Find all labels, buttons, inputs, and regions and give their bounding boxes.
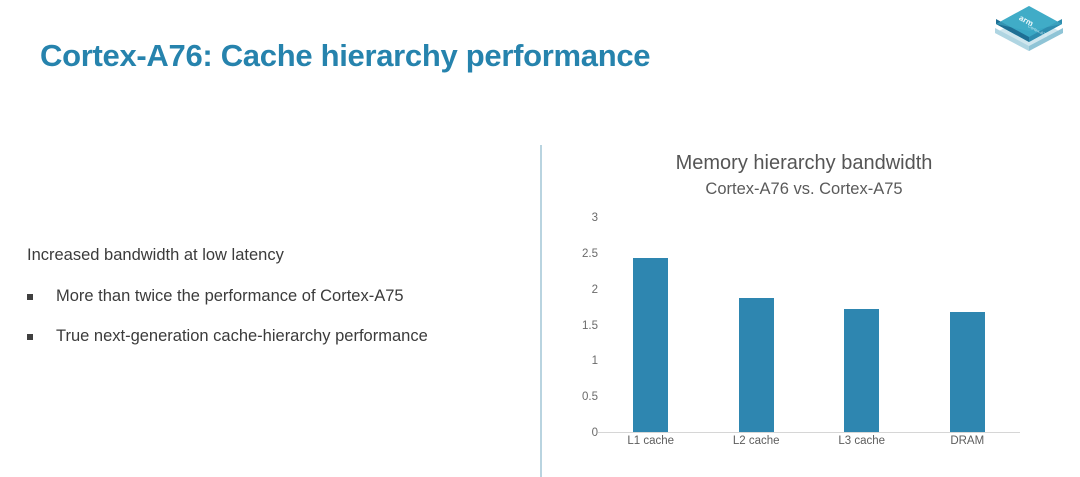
bar[interactable] xyxy=(739,298,774,432)
chart-subtitle: Cortex-A76 vs. Cortex-A75 xyxy=(560,180,1030,199)
x-axis-tick-label: L3 cache xyxy=(809,435,915,447)
square-bullet-icon xyxy=(27,294,33,300)
bar[interactable] xyxy=(950,312,985,432)
x-axis-tick-label: L2 cache xyxy=(704,435,810,447)
page-title: Cortex-A76: Cache hierarchy performance xyxy=(40,38,650,74)
vertical-divider xyxy=(540,145,542,477)
square-bullet-icon xyxy=(27,334,33,340)
bar-slot xyxy=(915,218,1021,432)
chart-title: Memory hierarchy bandwidth xyxy=(560,152,1030,175)
x-axis: L1 cacheL2 cacheL3 cacheDRAM xyxy=(598,435,1020,447)
y-axis-tick-label: 2.5 xyxy=(582,248,598,260)
plot-area-wrapper: 32.521.510.50 L1 cacheL2 cacheL3 cacheDR… xyxy=(560,218,1030,468)
bar[interactable] xyxy=(844,309,879,432)
bullet-text: True next-generation cache-hierarchy per… xyxy=(56,326,428,347)
bar-chart: Memory hierarchy bandwidth Cortex-A76 vs… xyxy=(560,152,1030,472)
bar[interactable] xyxy=(633,258,668,432)
list-item: True next-generation cache-hierarchy per… xyxy=(27,326,527,347)
bar-slot xyxy=(809,218,915,432)
arm-cortex-a76-chip-logo: arm Cortex-A76 xyxy=(990,2,1068,54)
plot-area xyxy=(598,218,1020,433)
x-axis-tick-label: DRAM xyxy=(915,435,1021,447)
lead-statement: Increased bandwidth at low latency xyxy=(27,246,527,265)
bullet-text: More than twice the performance of Corte… xyxy=(56,286,404,307)
bar-slot xyxy=(598,218,704,432)
y-axis: 32.521.510.50 xyxy=(560,218,598,433)
list-item: More than twice the performance of Corte… xyxy=(27,286,527,307)
bar-slot xyxy=(704,218,810,432)
chip-logo-icon: arm Cortex-A76 xyxy=(990,2,1068,54)
body-copy: Increased bandwidth at low latency More … xyxy=(27,246,527,365)
x-axis-tick-label: L1 cache xyxy=(598,435,704,447)
y-axis-tick-label: 0.5 xyxy=(582,391,598,403)
y-axis-tick-label: 1.5 xyxy=(582,320,598,332)
